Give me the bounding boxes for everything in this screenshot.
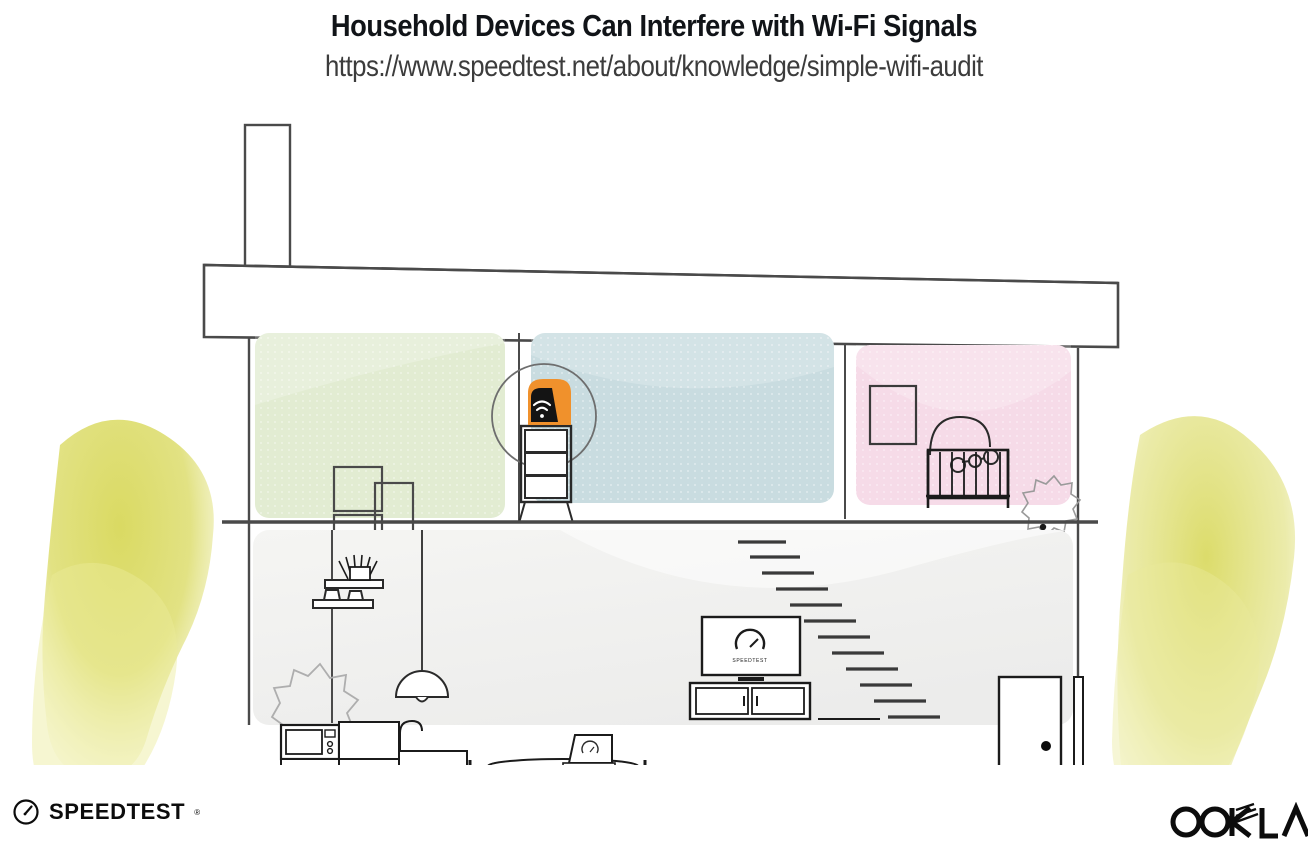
- front-door[interactable]: [999, 677, 1061, 765]
- laptop[interactable]: [563, 735, 615, 765]
- tv-screen-label: SPEEDTEST: [732, 658, 767, 664]
- ookla-logo[interactable]: [1166, 802, 1308, 847]
- poster-page: Household Devices Can Interfere with Wi-…: [0, 0, 1308, 861]
- speedtest-logo[interactable]: SPEEDTEST ®: [12, 798, 200, 826]
- speedtest-wordmark: SPEEDTEST: [49, 799, 185, 825]
- ookla-logomark: [1166, 802, 1308, 842]
- header: Household Devices Can Interfere with Wi-…: [0, 0, 1308, 84]
- media-console: [690, 683, 810, 719]
- speedtest-gauge-icon: [12, 798, 40, 826]
- room-ground-floor: [253, 530, 1073, 725]
- door-knob-icon: [1041, 741, 1051, 751]
- foliage-left: [32, 420, 214, 765]
- wifi-router[interactable]: [528, 379, 571, 425]
- house-cutaway-svg: SPEEDTEST: [0, 105, 1308, 765]
- kitchen-shelf-upper: [325, 580, 383, 588]
- wifi-icon-dot: [540, 414, 544, 418]
- sidelight-window: [1074, 677, 1083, 765]
- foliage-right: [1112, 416, 1295, 765]
- source-url: https://www.speedtest.net/about/knowledg…: [92, 50, 1217, 84]
- page-title: Household Devices Can Interfere with Wi-…: [78, 8, 1229, 44]
- room-bedroom-blue: [531, 333, 834, 503]
- television[interactable]: SPEEDTEST: [702, 617, 800, 681]
- kitchen-faucet: [400, 721, 422, 751]
- house-illustration: SPEEDTEST: [0, 105, 1308, 765]
- room-bedroom-green: [255, 333, 505, 518]
- footer: SPEEDTEST ®: [0, 780, 1308, 861]
- shelf-unit-router: [519, 426, 573, 523]
- speedtest-trademark: ®: [194, 808, 200, 817]
- microwave[interactable]: [281, 725, 339, 759]
